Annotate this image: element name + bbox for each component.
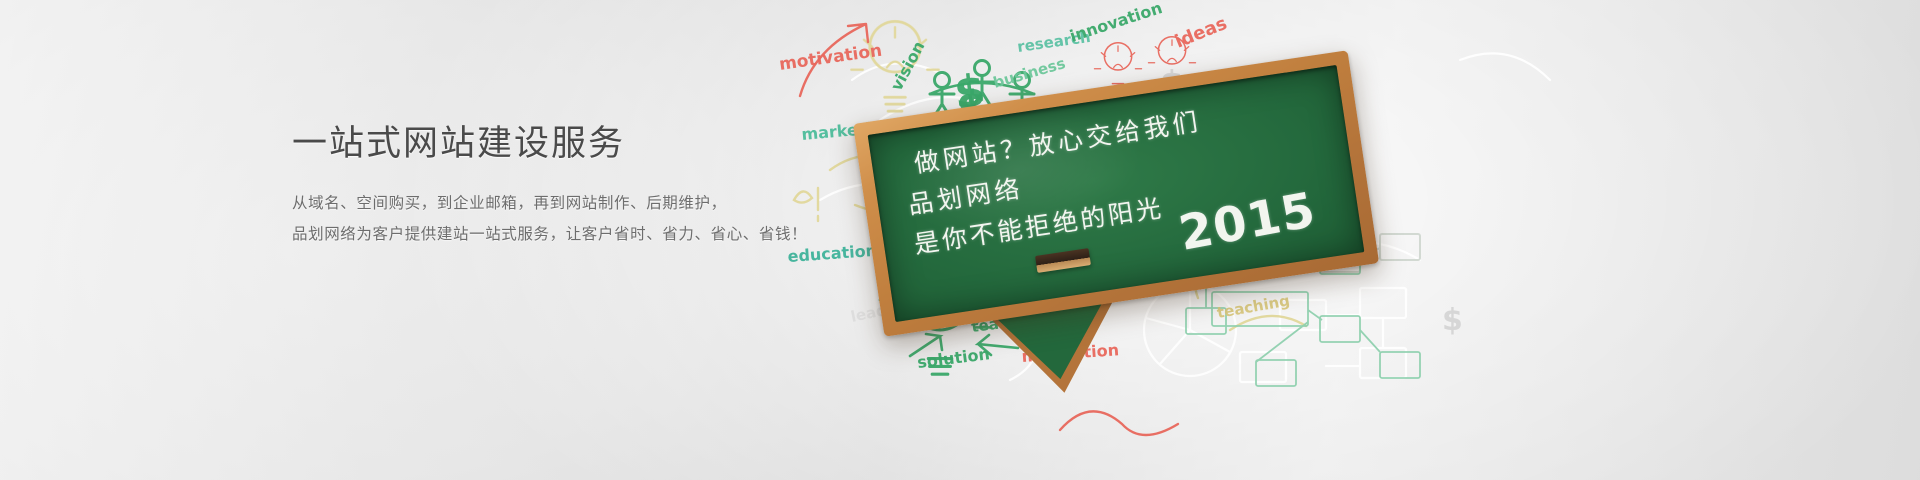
- chalk-year: 2015: [1175, 182, 1320, 262]
- chalk-line-2: 品划网络: [906, 123, 1335, 226]
- banner-subtext: 从域名、空间购买，到企业邮箱，再到网站制作、后期维护， 品划网络为客户提供建站一…: [292, 188, 807, 250]
- page-title: 一站式网站建设服务: [292, 122, 807, 166]
- svg-text:$: $: [1442, 303, 1463, 338]
- doodle-label-ideas: ideas: [1172, 13, 1230, 53]
- subtext-line-1: 从域名、空间购买，到企业邮箱，再到网站制作、后期维护，: [292, 188, 807, 219]
- promo-banner: 一站式网站建设服务 从域名、空间购买，到企业邮箱，再到网站制作、后期维护， 品划…: [0, 0, 1920, 480]
- banner-copy: 一站式网站建设服务 从域名、空间购买，到企业邮箱，再到网站制作、后期维护， 品划…: [292, 122, 807, 250]
- chalk-line-3: 是你不能拒绝的阳光: [911, 162, 1340, 265]
- doodle-label-innovation: innovation: [1067, 0, 1164, 46]
- subtext-line-2: 品划网络为客户提供建站一站式服务，让客户省时、省力、省心、省钱！: [292, 219, 807, 250]
- doodle-label-business: business: [991, 54, 1067, 92]
